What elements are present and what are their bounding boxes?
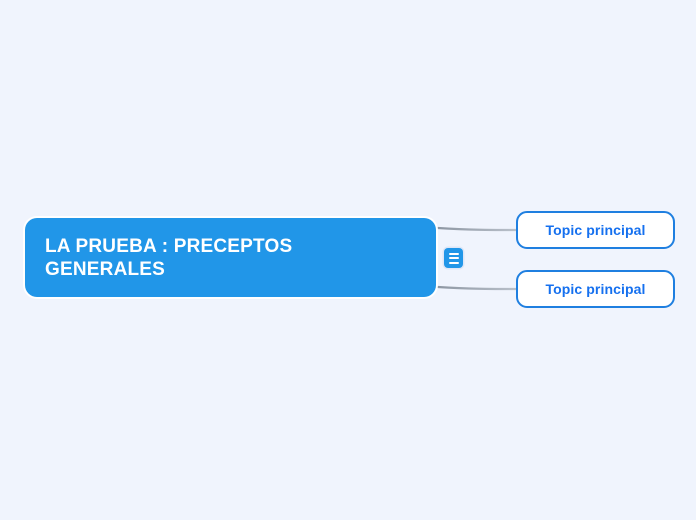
- topic-node-label: Topic principal: [545, 281, 645, 297]
- list-line-bar: [449, 257, 459, 259]
- root-node-body[interactable]: LA PRUEBA : PRECEPTOS GENERALES: [25, 218, 436, 297]
- topic-node[interactable]: Topic principal: [516, 211, 675, 249]
- root-node-label: LA PRUEBA : PRECEPTOS GENERALES: [45, 235, 320, 281]
- topic-node-label: Topic principal: [545, 222, 645, 238]
- list-line-bar: [449, 262, 459, 264]
- list-lines-icon[interactable]: [444, 248, 463, 268]
- root-node[interactable]: LA PRUEBA : PRECEPTOS GENERALES: [23, 216, 438, 299]
- topic-node[interactable]: Topic principal: [516, 270, 675, 308]
- mindmap-canvas: LA PRUEBA : PRECEPTOS GENERALES Topic pr…: [0, 0, 696, 520]
- connector-line-0: [438, 228, 516, 230]
- connector-line-1: [438, 287, 516, 289]
- list-line-bar: [449, 253, 459, 255]
